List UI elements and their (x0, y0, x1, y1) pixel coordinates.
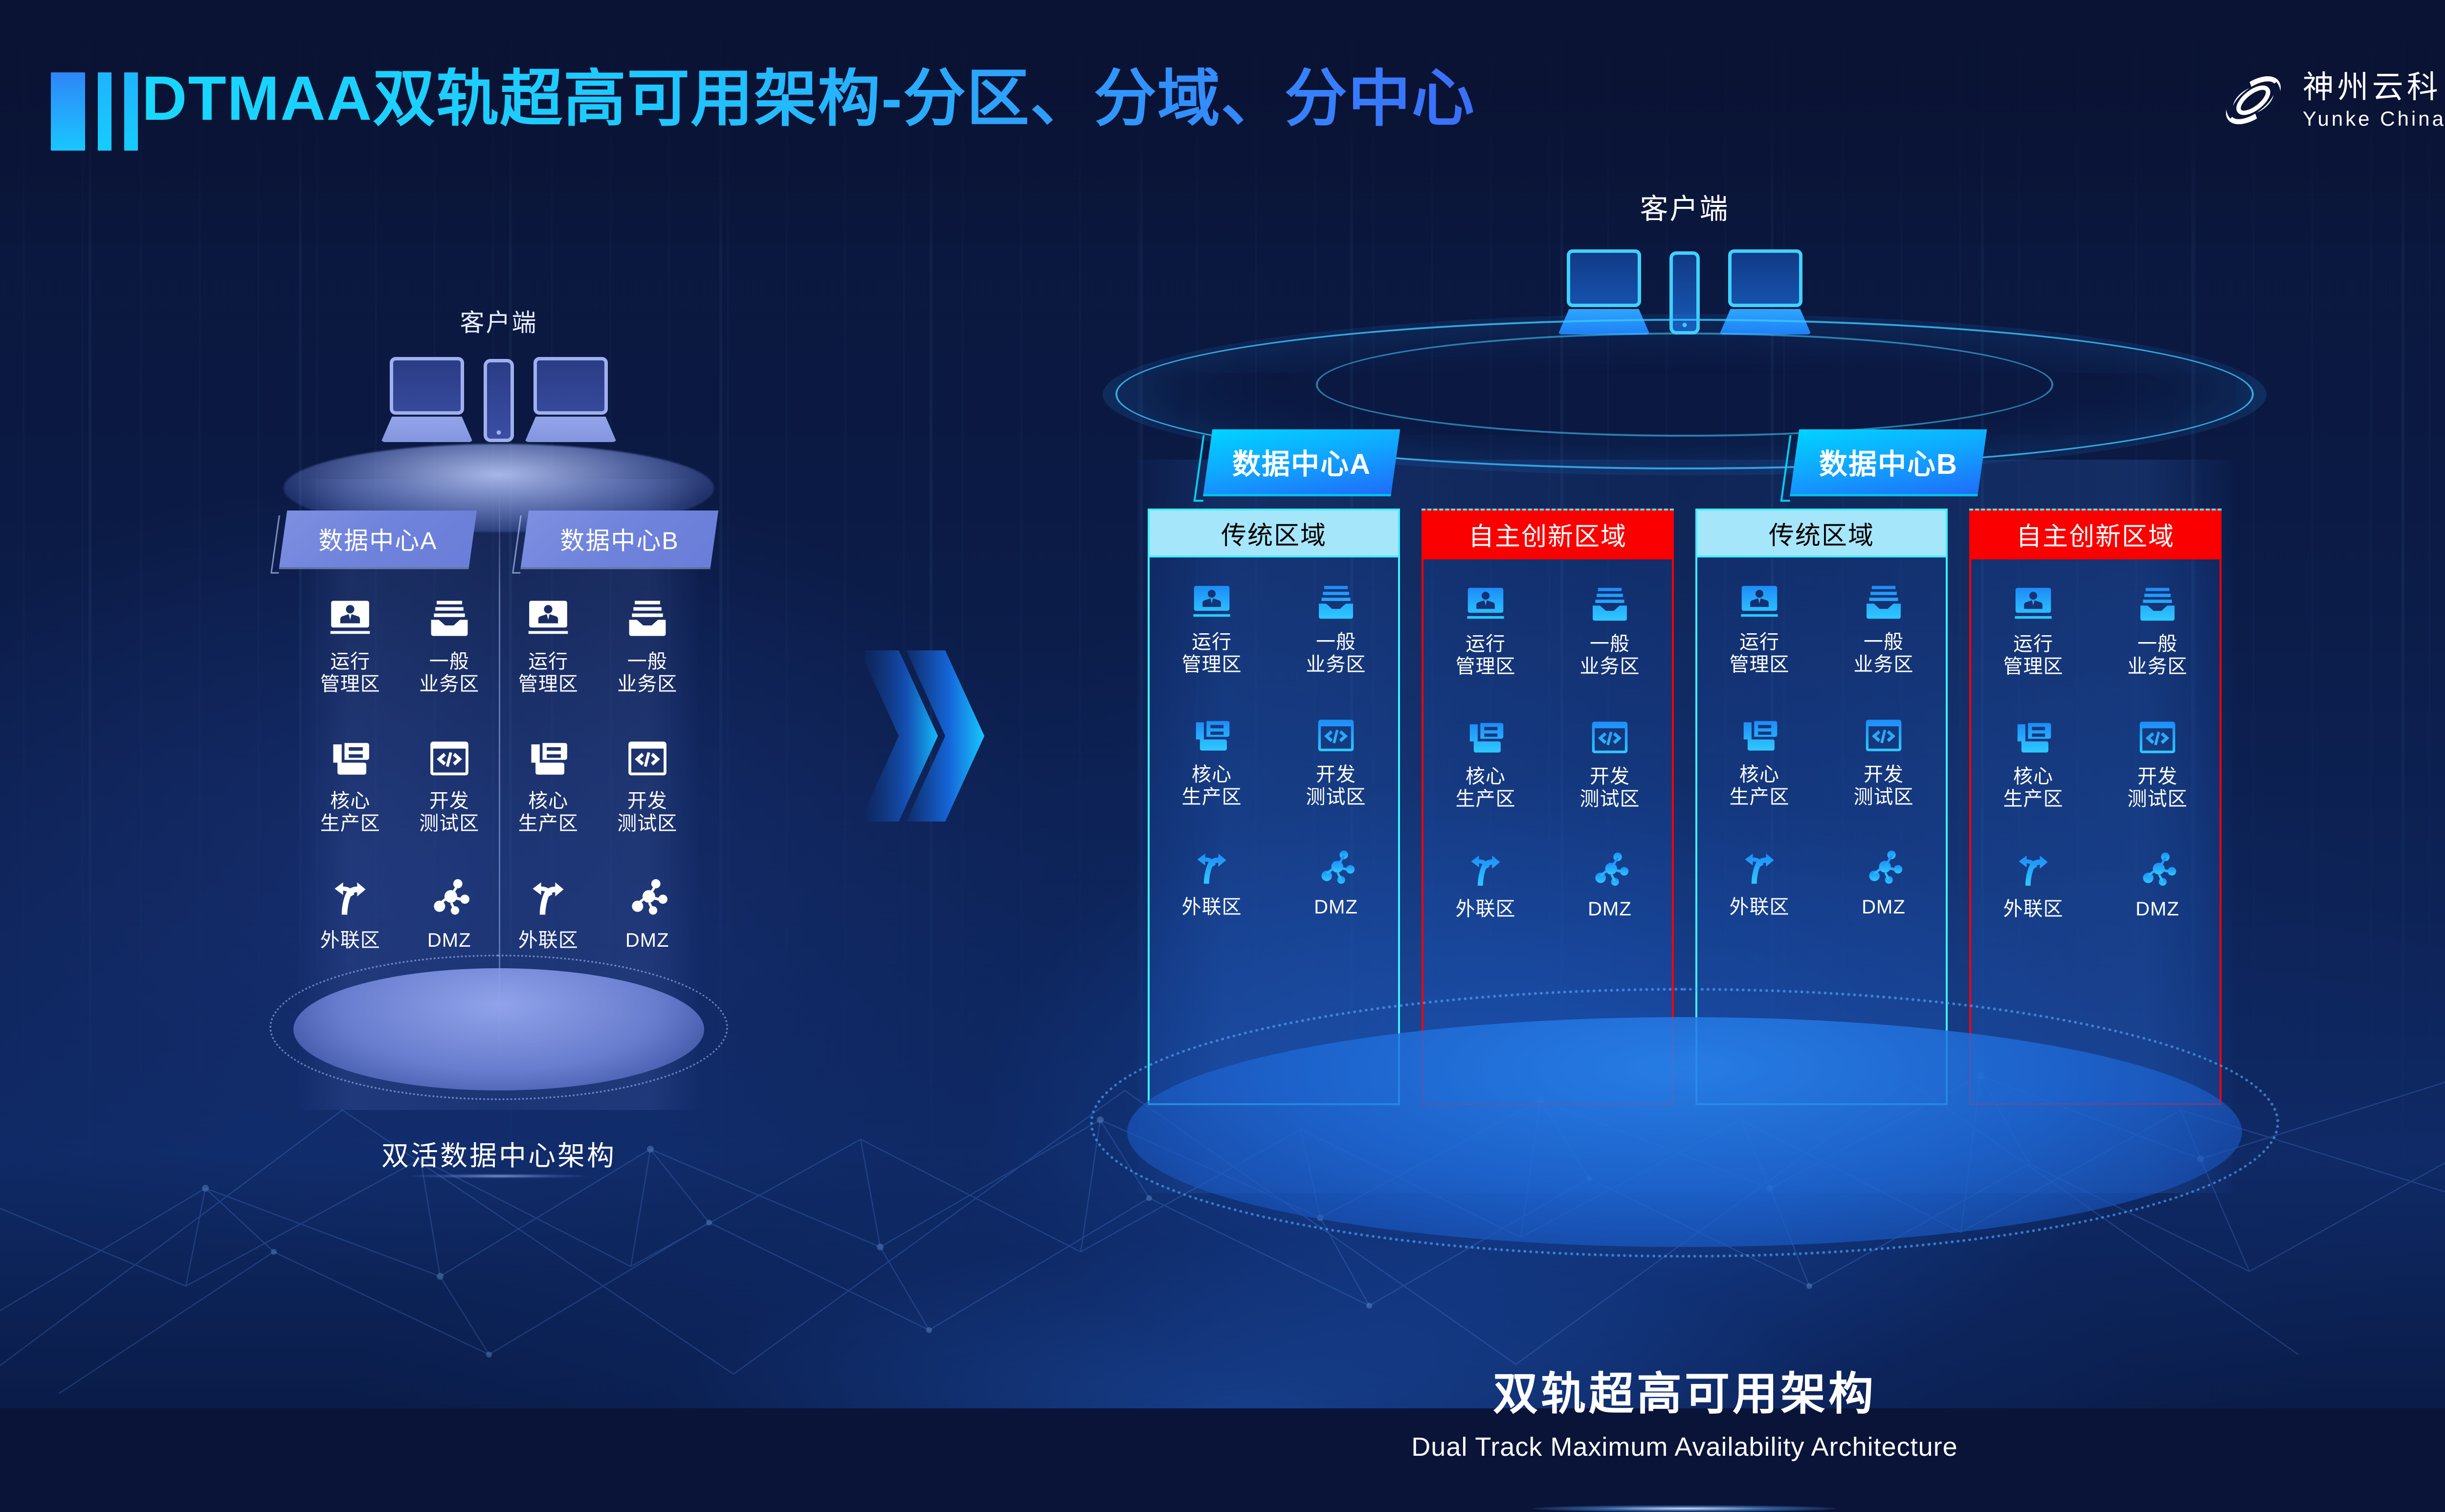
zone-item[interactable]: 运行管理区 (499, 597, 598, 696)
zone-label: 开发测试区 (2128, 765, 2188, 811)
right-title-en: Dual Track Maximum Availability Architec… (1411, 1432, 1957, 1462)
zone-label: 核心生产区 (1182, 763, 1242, 809)
zone-item[interactable]: DMZ (1274, 847, 1398, 918)
network-nodes-icon (1315, 847, 1357, 889)
zone-item[interactable]: DMZ (1548, 849, 1672, 920)
zone-item[interactable]: 一般业务区 (1822, 582, 1946, 676)
left-architecture-diagram: 客户端 数据中心A 数据中心B 运行管理区 一般业务区 核 (161, 303, 836, 1174)
zone-item[interactable]: 外联区 (499, 875, 598, 952)
zone-label: 一般业务区 (419, 650, 479, 696)
zone-item[interactable]: 核心生产区 (499, 736, 598, 835)
laptop-icon (533, 357, 608, 442)
zone-item[interactable]: DMZ (400, 875, 499, 952)
zone-item[interactable]: 一般业务区 (2095, 584, 2220, 678)
code-window-icon (427, 736, 472, 781)
zone-label: 核心生产区 (1456, 765, 1516, 811)
zone-item[interactable]: 一般业务区 (1274, 582, 1398, 676)
zone-item[interactable]: 运行管理区 (301, 597, 400, 696)
zone-item[interactable]: 开发测试区 (1548, 716, 1672, 811)
zone-label: 运行管理区 (1456, 633, 1516, 678)
right-diagram-title: 双轨超高可用架构 Dual Track Maximum Availability… (1411, 1367, 1957, 1462)
zone-label: 外联区 (1456, 898, 1516, 920)
left-diagram-caption: 双活数据中心架构 (381, 1134, 616, 1174)
zone-label: 运行管理区 (320, 650, 380, 696)
zone-item[interactable]: 开发测试区 (598, 736, 697, 835)
zone-label: DMZ (1588, 898, 1632, 920)
left-datacenter-a-zones: 运行管理区 一般业务区 核心生产区 开发测试区 外联区 DMZ (301, 597, 499, 952)
right-datacenter-b-label: 数据中心B (1819, 441, 1958, 482)
zone-item[interactable]: DMZ (1822, 847, 1946, 918)
swirl-logo-icon (2217, 64, 2290, 137)
zone-label: 一般业务区 (617, 650, 677, 696)
left-client-label: 客户端 (460, 303, 538, 338)
right-datacenter-a-badge[interactable]: 数据中心A (1203, 429, 1400, 494)
branch-arrows-icon (1465, 849, 1507, 891)
zone-label: 外联区 (1730, 896, 1790, 918)
zone-item[interactable]: 运行管理区 (1150, 582, 1274, 676)
branch-arrows-icon (1738, 847, 1780, 889)
zone-label: 开发测试区 (1580, 765, 1640, 811)
zone-label: 运行管理区 (518, 650, 578, 696)
inbox-tray-icon (1315, 582, 1357, 624)
zone-item[interactable]: 外联区 (301, 875, 400, 952)
network-nodes-icon (1863, 847, 1905, 889)
network-nodes-icon (1589, 849, 1631, 891)
right-title-glow (1533, 1505, 1836, 1512)
phone-icon (484, 359, 514, 442)
zone-label: 一般业务区 (2128, 633, 2188, 678)
zone-column-header: 自主创新区域 (1422, 509, 1674, 557)
right-datacenter-a-label: 数据中心A (1232, 441, 1371, 482)
left-datacenter-badges: 数据中心A 数据中心B (161, 511, 836, 567)
zone-label: 外联区 (1182, 896, 1242, 918)
zone-item[interactable]: 核心生产区 (1697, 714, 1822, 809)
branch-arrows-icon (1191, 847, 1233, 889)
server-stack-icon (1738, 714, 1780, 756)
zone-label: DMZ (625, 929, 669, 952)
zone-item[interactable]: 开发测试区 (2095, 716, 2220, 811)
zone-label: 核心生产区 (518, 790, 578, 835)
zone-item[interactable]: 运行管理区 (1971, 584, 2095, 678)
right-top-ring-inner (1316, 333, 2053, 437)
user-monitor-icon (1738, 582, 1780, 624)
left-caption-glow (411, 1174, 587, 1178)
zone-label: 一般业务区 (1306, 631, 1366, 676)
branch-arrows-icon (328, 875, 373, 920)
left-datacenter-a-badge[interactable]: 数据中心A (279, 511, 477, 567)
code-window-icon (1315, 714, 1357, 756)
zone-item[interactable]: 一般业务区 (400, 597, 499, 696)
zone-item[interactable]: 外联区 (1697, 847, 1822, 918)
brand-logo: 神州云科 Yunke China (2217, 64, 2445, 137)
zone-label: 外联区 (2003, 898, 2064, 920)
left-zone-grid: 运行管理区 一般业务区 核心生产区 开发测试区 外联区 DMZ (301, 597, 697, 952)
right-client-label: 客户端 (1640, 186, 1729, 227)
user-monitor-icon (1465, 584, 1507, 626)
code-window-icon (2136, 716, 2178, 758)
zone-label: 开发测试区 (1854, 763, 1914, 809)
brand-name-en: Yunke China (2303, 109, 2445, 129)
page-header: DTMAA双轨超高可用架构-分区、分域、分中心 神州云科 Yunke China (0, 0, 2445, 176)
right-datacenter-b-badge[interactable]: 数据中心B (1790, 429, 1987, 494)
zone-label: 外联区 (518, 929, 578, 952)
network-nodes-icon (427, 875, 472, 920)
zone-item[interactable]: 外联区 (1971, 849, 2095, 920)
inbox-tray-icon (625, 597, 670, 642)
zone-item[interactable]: 运行管理区 (1423, 584, 1548, 678)
zone-label: 开发测试区 (419, 790, 479, 835)
zone-label: 核心生产区 (1730, 763, 1790, 809)
zone-item[interactable]: 开发测试区 (1274, 714, 1398, 809)
zone-label: 运行管理区 (2003, 633, 2064, 678)
user-monitor-icon (526, 597, 571, 642)
zone-item[interactable]: 核心生产区 (301, 736, 400, 835)
zone-label: DMZ (427, 929, 471, 952)
zone-item[interactable]: DMZ (2095, 849, 2220, 920)
left-datacenter-b-label: 数据中心B (546, 521, 693, 556)
zone-label: 开发测试区 (617, 790, 677, 835)
server-stack-icon (526, 736, 571, 781)
left-datacenter-a-label: 数据中心A (305, 521, 451, 556)
zone-label: 运行管理区 (1730, 631, 1790, 676)
zone-column-header: 自主创新区域 (1969, 509, 2222, 557)
zone-label: DMZ (2135, 898, 2179, 920)
zone-item[interactable]: DMZ (598, 875, 697, 952)
user-monitor-icon (2012, 584, 2054, 626)
right-base-platform (1127, 1017, 2242, 1247)
zone-item[interactable]: 开发测试区 (400, 736, 499, 835)
left-client-devices (390, 357, 608, 442)
zone-item[interactable]: 开发测试区 (1822, 714, 1946, 809)
code-window-icon (625, 736, 670, 781)
title-accent-bars (51, 72, 138, 151)
zone-column-header: 传统区域 (1148, 509, 1400, 557)
server-stack-icon (2012, 716, 2054, 758)
inbox-tray-icon (1863, 582, 1905, 624)
network-nodes-icon (625, 875, 670, 920)
zone-label: 一般业务区 (1580, 633, 1640, 678)
left-base-platform (293, 968, 704, 1090)
branch-arrows-icon (526, 875, 571, 920)
zone-label: 核心生产区 (320, 790, 380, 835)
zone-item[interactable]: 一般业务区 (1548, 584, 1672, 678)
zone-label: 一般业务区 (1854, 631, 1914, 676)
laptop-icon (390, 357, 464, 442)
zone-label: 开发测试区 (1306, 763, 1366, 809)
inbox-tray-icon (427, 597, 472, 642)
zone-item[interactable]: 核心生产区 (1150, 714, 1274, 809)
server-stack-icon (328, 736, 373, 781)
server-stack-icon (1465, 716, 1507, 758)
zone-label: 运行管理区 (1182, 631, 1242, 676)
page-title: DTMAA双轨超高可用架构-分区、分域、分中心 (142, 67, 1475, 130)
zone-item[interactable]: 一般业务区 (598, 597, 697, 696)
zone-label: 外联区 (320, 929, 380, 952)
zone-item[interactable]: 核心生产区 (1971, 716, 2095, 811)
zone-item[interactable]: 外联区 (1423, 849, 1548, 920)
zone-label: DMZ (1314, 896, 1358, 918)
network-nodes-icon (2136, 849, 2178, 891)
code-window-icon (1863, 714, 1905, 756)
zone-item[interactable]: 运行管理区 (1697, 582, 1822, 676)
inbox-tray-icon (2136, 584, 2178, 626)
right-title-cn: 双轨超高可用架构 (1411, 1367, 1957, 1421)
user-monitor-icon (1191, 582, 1233, 624)
zone-label: DMZ (1862, 896, 1906, 918)
right-architecture-diagram: 客户端 数据中心A 数据中心B 传统区域 运行管理区 一般业务区 核心生产区 开… (968, 186, 2401, 1320)
brand-name-cn: 神州云科 (2303, 71, 2445, 103)
user-monitor-icon (328, 597, 373, 642)
zone-column-header: 传统区域 (1695, 509, 1948, 557)
zone-item[interactable]: 核心生产区 (1423, 716, 1548, 811)
left-datacenter-b-badge[interactable]: 数据中心B (521, 511, 718, 567)
server-stack-icon (1191, 714, 1233, 756)
zone-item[interactable]: 外联区 (1150, 847, 1274, 918)
inbox-tray-icon (1589, 584, 1631, 626)
left-datacenter-b-zones: 运行管理区 一般业务区 核心生产区 开发测试区 外联区 DMZ (499, 597, 697, 952)
code-window-icon (1589, 716, 1631, 758)
branch-arrows-icon (2012, 849, 2054, 891)
zone-label: 核心生产区 (2003, 765, 2064, 811)
